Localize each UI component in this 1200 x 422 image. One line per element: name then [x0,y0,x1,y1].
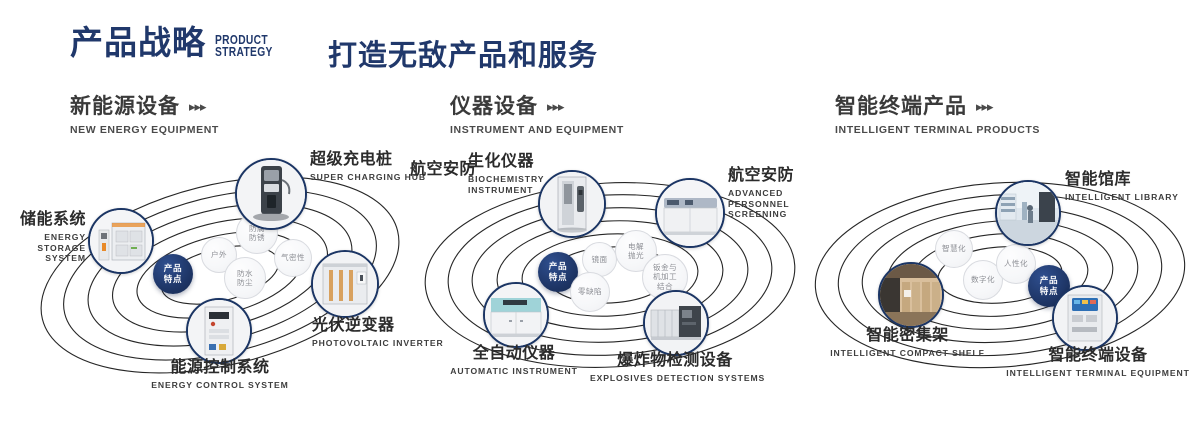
caption-en-text: BIOCHEMISTRY INSTRUMENT [468,174,544,195]
feature-bubble-label: 镜面 [592,255,608,264]
poster-title-en-line2: STRATEGY [215,46,273,58]
library-hall-icon [997,182,1059,244]
feature-bubble-intelligentization: 智慧化 [935,230,973,268]
feature-bubble-label: 人性化 [1004,259,1028,268]
caption-aviation-security-overlay: 航空安防 [410,162,476,179]
caption-energy-control-system: 能源控制系统 ENERGY CONTROL SYSTEM [130,360,310,391]
caption-cn: 航空安防 [410,162,476,179]
cluster-instrument: 产品特点 镜面 电解抛光 零缺陷 钣金与机加工结合 生 [410,150,810,400]
caption-cn: 智能馆库 [1065,172,1179,189]
caption-en: ENERGY STORAGE SYSTEM [0,232,86,264]
feature-bubble-label: 防水防尘 [236,269,254,288]
node-energy-storage[interactable] [88,208,154,274]
caption-en-text: ADVANCED PERSONNEL SCREENING [728,188,789,219]
section-header-intelligent-terminal: 智能终端产品 ▸▸▸ INTELLIGENT TERMINAL PRODUCTS [835,96,1040,136]
node-intelligent-compact-shelf[interactable] [878,262,944,328]
caption-cn: 超级充电桩 [310,152,426,169]
automatic-analyzer-icon [485,284,547,346]
node-intelligent-library[interactable] [995,180,1061,246]
section-title-cn-new-energy: 新能源设备 [70,96,180,117]
chevron-right-icon: ▸▸▸ [189,99,206,115]
feature-bubble-zero-defect: 零缺陷 [570,272,610,312]
caption-en: BIOCHEMISTRY INSTRUMENT [468,174,534,195]
feature-bubble-waterproof: 防水防尘 [224,257,266,299]
poster-canvas: 产品战略 PRODUCT STRATEGY 打造无敌产品和服务 新能源设备 ▸▸… [0,0,1200,422]
feature-bubble-label: 钣金与机加工结合 [650,263,680,291]
node-photovoltaic-inverter[interactable] [311,250,379,318]
feature-bubble-label: 智慧化 [942,244,966,253]
caption-en: EXPLOSIVES DETECTION SYSTEMS [590,373,760,384]
core-bubble-label: 产品特点 [547,261,569,282]
self-service-kiosk-icon [1054,287,1116,349]
charging-pile-icon [237,160,305,228]
caption-biochemistry-instrument: 生化仪器 BIOCHEMISTRY INSTRUMENT [468,154,534,195]
section-title-en-instrument: INSTRUMENT AND EQUIPMENT [450,124,624,136]
feature-bubble-label: 数字化 [971,275,995,284]
caption-en: ENERGY CONTROL SYSTEM [130,380,310,391]
section-title-en-new-energy: NEW ENERGY EQUIPMENT [70,124,219,136]
section-title-en-intelligent-terminal: INTELLIGENT TERMINAL PRODUCTS [835,124,1040,136]
caption-en: INTELLIGENT LIBRARY [1065,192,1179,203]
caption-cn: 智能密集架 [820,328,995,345]
node-intelligent-terminal-equipment[interactable] [1052,285,1118,351]
caption-intelligent-compact-shelf: 智能密集架 INTELLIGENT COMPACT SHELF [820,328,995,359]
caption-cn: 全自动仪器 [428,346,600,363]
node-automatic-instrument[interactable] [483,282,549,348]
caption-en: INTELLIGENT TERMINAL EQUIPMENT [998,368,1198,379]
chevron-right-icon: ▸▸▸ [976,99,993,115]
node-energy-control-system[interactable] [186,298,252,364]
inverter-cabinet-icon [313,252,377,316]
cluster-new-energy: 产品特点 户外 防腐防锈 防水防尘 气密性 [20,150,420,400]
energy-storage-cabinet-icon [90,210,152,272]
feature-bubble-label: 气密性 [281,253,305,262]
core-bubble-new-energy: 产品特点 [153,254,193,294]
node-personnel-screening[interactable] [655,178,725,248]
caption-cn: 储能系统 [0,212,86,229]
control-cabinet-icon [188,300,250,362]
caption-intelligent-library: 智能馆库 INTELLIGENT LIBRARY [1065,172,1179,203]
caption-en: AUTOMATIC INSTRUMENT [428,366,600,377]
caption-en: SUPER CHARGING HUB [310,172,426,183]
node-charging-pile[interactable] [235,158,307,230]
feature-bubble-label: 电解抛光 [627,242,645,261]
poster-title-en: PRODUCT STRATEGY [215,34,273,58]
section-header-new-energy: 新能源设备 ▸▸▸ NEW ENERGY EQUIPMENT [70,96,219,136]
biochemistry-scanner-icon [540,172,604,236]
core-bubble-label: 产品特点 [162,263,184,284]
node-explosives-detection[interactable] [643,290,709,356]
feature-bubble-label: 零缺陷 [578,287,602,296]
explosives-detector-icon [645,292,707,354]
section-title-cn-instrument: 仪器设备 [450,96,538,117]
caption-cn: 能源控制系统 [130,360,310,377]
caption-en: INTELLIGENT COMPACT SHELF [820,348,995,359]
caption-explosives-detection: 爆炸物检测设备 EXPLOSIVES DETECTION SYSTEMS [590,353,760,384]
poster-title: 产品战略 PRODUCT STRATEGY [70,26,285,59]
caption-cn: 爆炸物检测设备 [590,353,760,370]
caption-automatic-instrument: 全自动仪器 AUTOMATIC INSTRUMENT [428,346,600,377]
cluster-intelligent-terminal: 智慧化 数字化 人性化 产品特点 [800,150,1200,400]
node-biochemistry-instrument[interactable] [538,170,606,238]
caption-energy-storage: 储能系统 ENERGY STORAGE SYSTEM [0,212,86,264]
poster-title-cn: 产品战略 [70,26,206,59]
section-header-instrument: 仪器设备 ▸▸▸ INSTRUMENT AND EQUIPMENT [450,96,624,136]
poster-slogan: 打造无敌产品和服务 [328,32,598,74]
feature-bubble-label: 户外 [211,250,227,259]
screening-machine-icon [657,180,723,246]
compact-shelving-icon [880,264,942,326]
caption-cn: 智能终端设备 [998,348,1198,365]
feature-bubble-airtight: 气密性 [274,239,312,277]
chevron-right-icon: ▸▸▸ [547,99,564,115]
caption-intelligent-terminal-equipment: 智能终端设备 INTELLIGENT TERMINAL EQUIPMENT [998,348,1198,379]
section-title-cn-intelligent-terminal: 智能终端产品 [835,96,967,117]
caption-charging-pile: 超级充电桩 SUPER CHARGING HUB [310,152,426,183]
caption-cn: 生化仪器 [468,154,534,171]
